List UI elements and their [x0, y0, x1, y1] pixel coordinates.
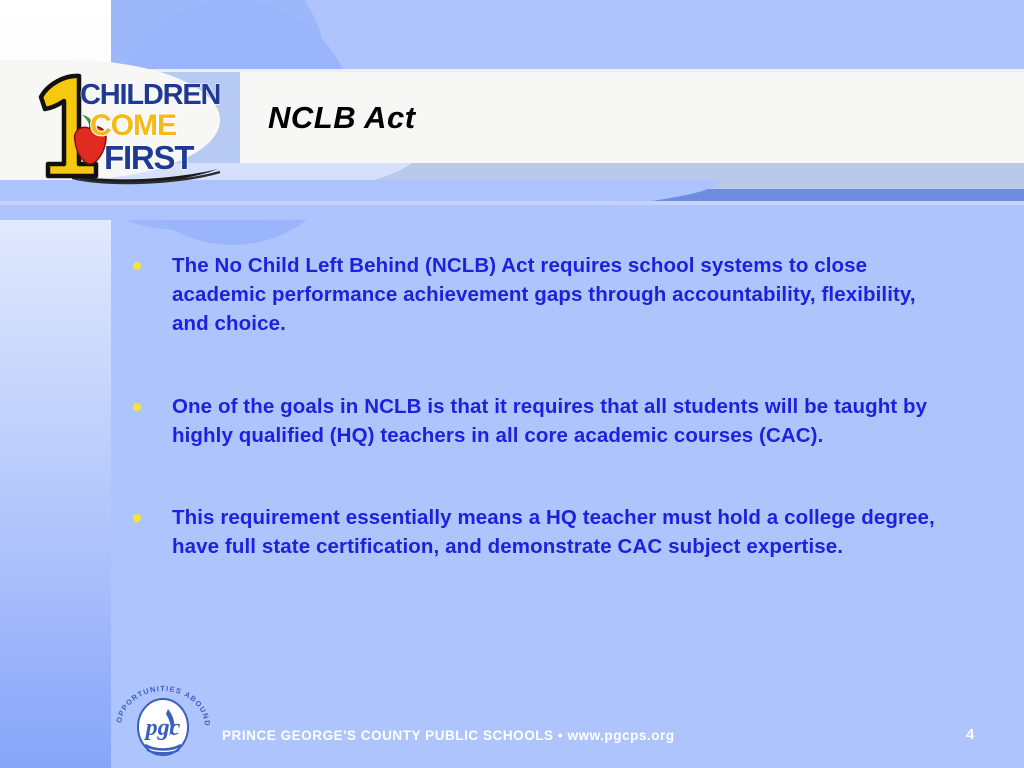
seal-monogram: pgc	[144, 715, 181, 741]
children-come-first-logo: CHILDREN COME FIRST	[32, 68, 227, 190]
bullet-dot-icon	[133, 514, 141, 522]
bullet-dot-icon	[133, 403, 141, 411]
logo-text-come: COME	[90, 109, 176, 142]
list-item: The No Child Left Behind (NCLB) Act requ…	[133, 252, 1003, 339]
bullet-dot-icon	[133, 262, 141, 270]
footer-text: PRINCE GEORGE'S COUNTY PUBLIC SCHOOLS • …	[222, 728, 675, 743]
bullet-text: This requirement essentially means a HQ …	[172, 504, 944, 562]
list-item: This requirement essentially means a HQ …	[133, 504, 1003, 562]
bullet-list: The No Child Left Behind (NCLB) Act requ…	[133, 252, 1003, 562]
pgcps-seal: OPPORTUNITIES ABOUND FOR ALL pgc	[111, 683, 215, 763]
slide: NCLB Act CHILDREN COME FIRST	[0, 0, 1024, 768]
page-number: 4	[966, 726, 974, 743]
logo-text-children: CHILDREN	[80, 79, 220, 111]
logo-text-first: FIRST	[104, 139, 194, 176]
bullet-text: One of the goals in NCLB is that it requ…	[172, 393, 982, 451]
list-item: One of the goals in NCLB is that it requ…	[133, 393, 1003, 451]
page-title: NCLB Act	[268, 100, 416, 136]
bullet-text: The No Child Left Behind (NCLB) Act requ…	[172, 252, 917, 339]
decorative-band-thin	[0, 201, 1024, 205]
